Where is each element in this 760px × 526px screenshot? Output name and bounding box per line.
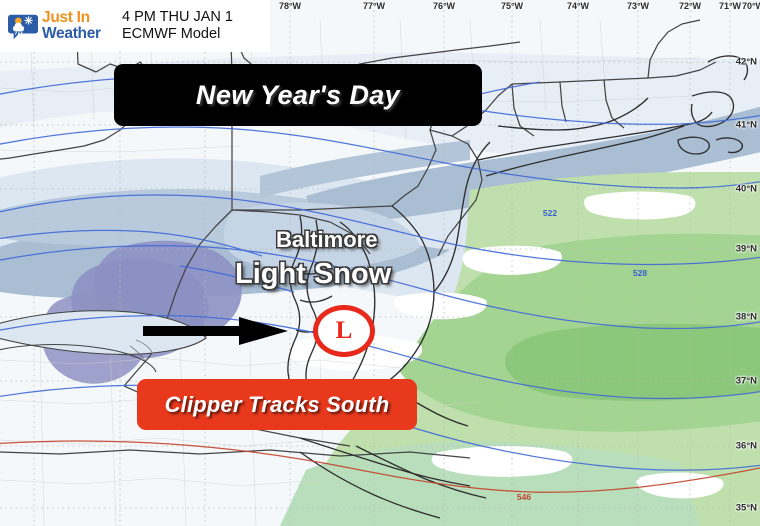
brand-line-1: Just In bbox=[42, 10, 101, 26]
lon-label: 70°W bbox=[742, 1, 760, 11]
model-name-label: ECMWF Model bbox=[122, 26, 233, 43]
lat-label: 38°N bbox=[736, 312, 757, 323]
rain-heavy-area bbox=[505, 324, 760, 401]
contour-label: 522 bbox=[543, 208, 557, 218]
clipper-callout-text: Clipper Tracks South bbox=[165, 392, 390, 418]
lon-label: 72°W bbox=[679, 1, 701, 11]
city-label-baltimore: Baltimore bbox=[276, 227, 377, 253]
low-pressure-marker: L bbox=[313, 305, 375, 357]
title-banner-text: New Year's Day bbox=[196, 80, 400, 111]
precip-label-light-snow: Light Snow bbox=[235, 258, 391, 291]
header-info: 4 PM THU JAN 1 ECMWF Model bbox=[122, 9, 233, 43]
lon-label: 78°W bbox=[279, 1, 301, 11]
brand-wordmark: Just In Weather bbox=[42, 10, 101, 42]
contour-label: 546 bbox=[517, 492, 531, 502]
sun-cloud-snow-speech-bubble-icon bbox=[8, 11, 38, 41]
lon-label: 73°W bbox=[627, 1, 649, 11]
contour-label: 528 bbox=[633, 268, 647, 278]
low-pressure-letter: L bbox=[313, 305, 375, 357]
lat-label: 42°N bbox=[736, 57, 757, 68]
storm-track-arrow bbox=[143, 316, 288, 346]
brand-line-2: Weather bbox=[42, 26, 101, 42]
lat-label: 36°N bbox=[736, 441, 757, 452]
lat-label: 40°N bbox=[736, 184, 757, 195]
lon-label: 75°W bbox=[501, 1, 523, 11]
lon-label: 77°W bbox=[363, 1, 385, 11]
lon-label: 76°W bbox=[433, 1, 455, 11]
lat-label: 41°N bbox=[736, 120, 757, 131]
dry-hole-1 bbox=[584, 192, 695, 220]
valid-time-label: 4 PM THU JAN 1 bbox=[122, 9, 233, 26]
lat-label: 37°N bbox=[736, 376, 757, 387]
lon-label: 71°W bbox=[719, 1, 741, 11]
lon-label: 74°W bbox=[567, 1, 589, 11]
clipper-callout-banner: Clipper Tracks South bbox=[137, 379, 417, 430]
lat-label: 39°N bbox=[736, 244, 757, 255]
weather-map-graphic: 81°W 80°W 79°W 78°W 77°W 76°W 75°W 74°W … bbox=[0, 0, 760, 526]
lat-label: 35°N bbox=[736, 503, 757, 514]
header-plate: Just In Weather 4 PM THU JAN 1 ECMWF Mod… bbox=[0, 0, 270, 52]
title-banner: New Year's Day bbox=[114, 64, 482, 126]
brand-logo: Just In Weather bbox=[0, 10, 116, 42]
